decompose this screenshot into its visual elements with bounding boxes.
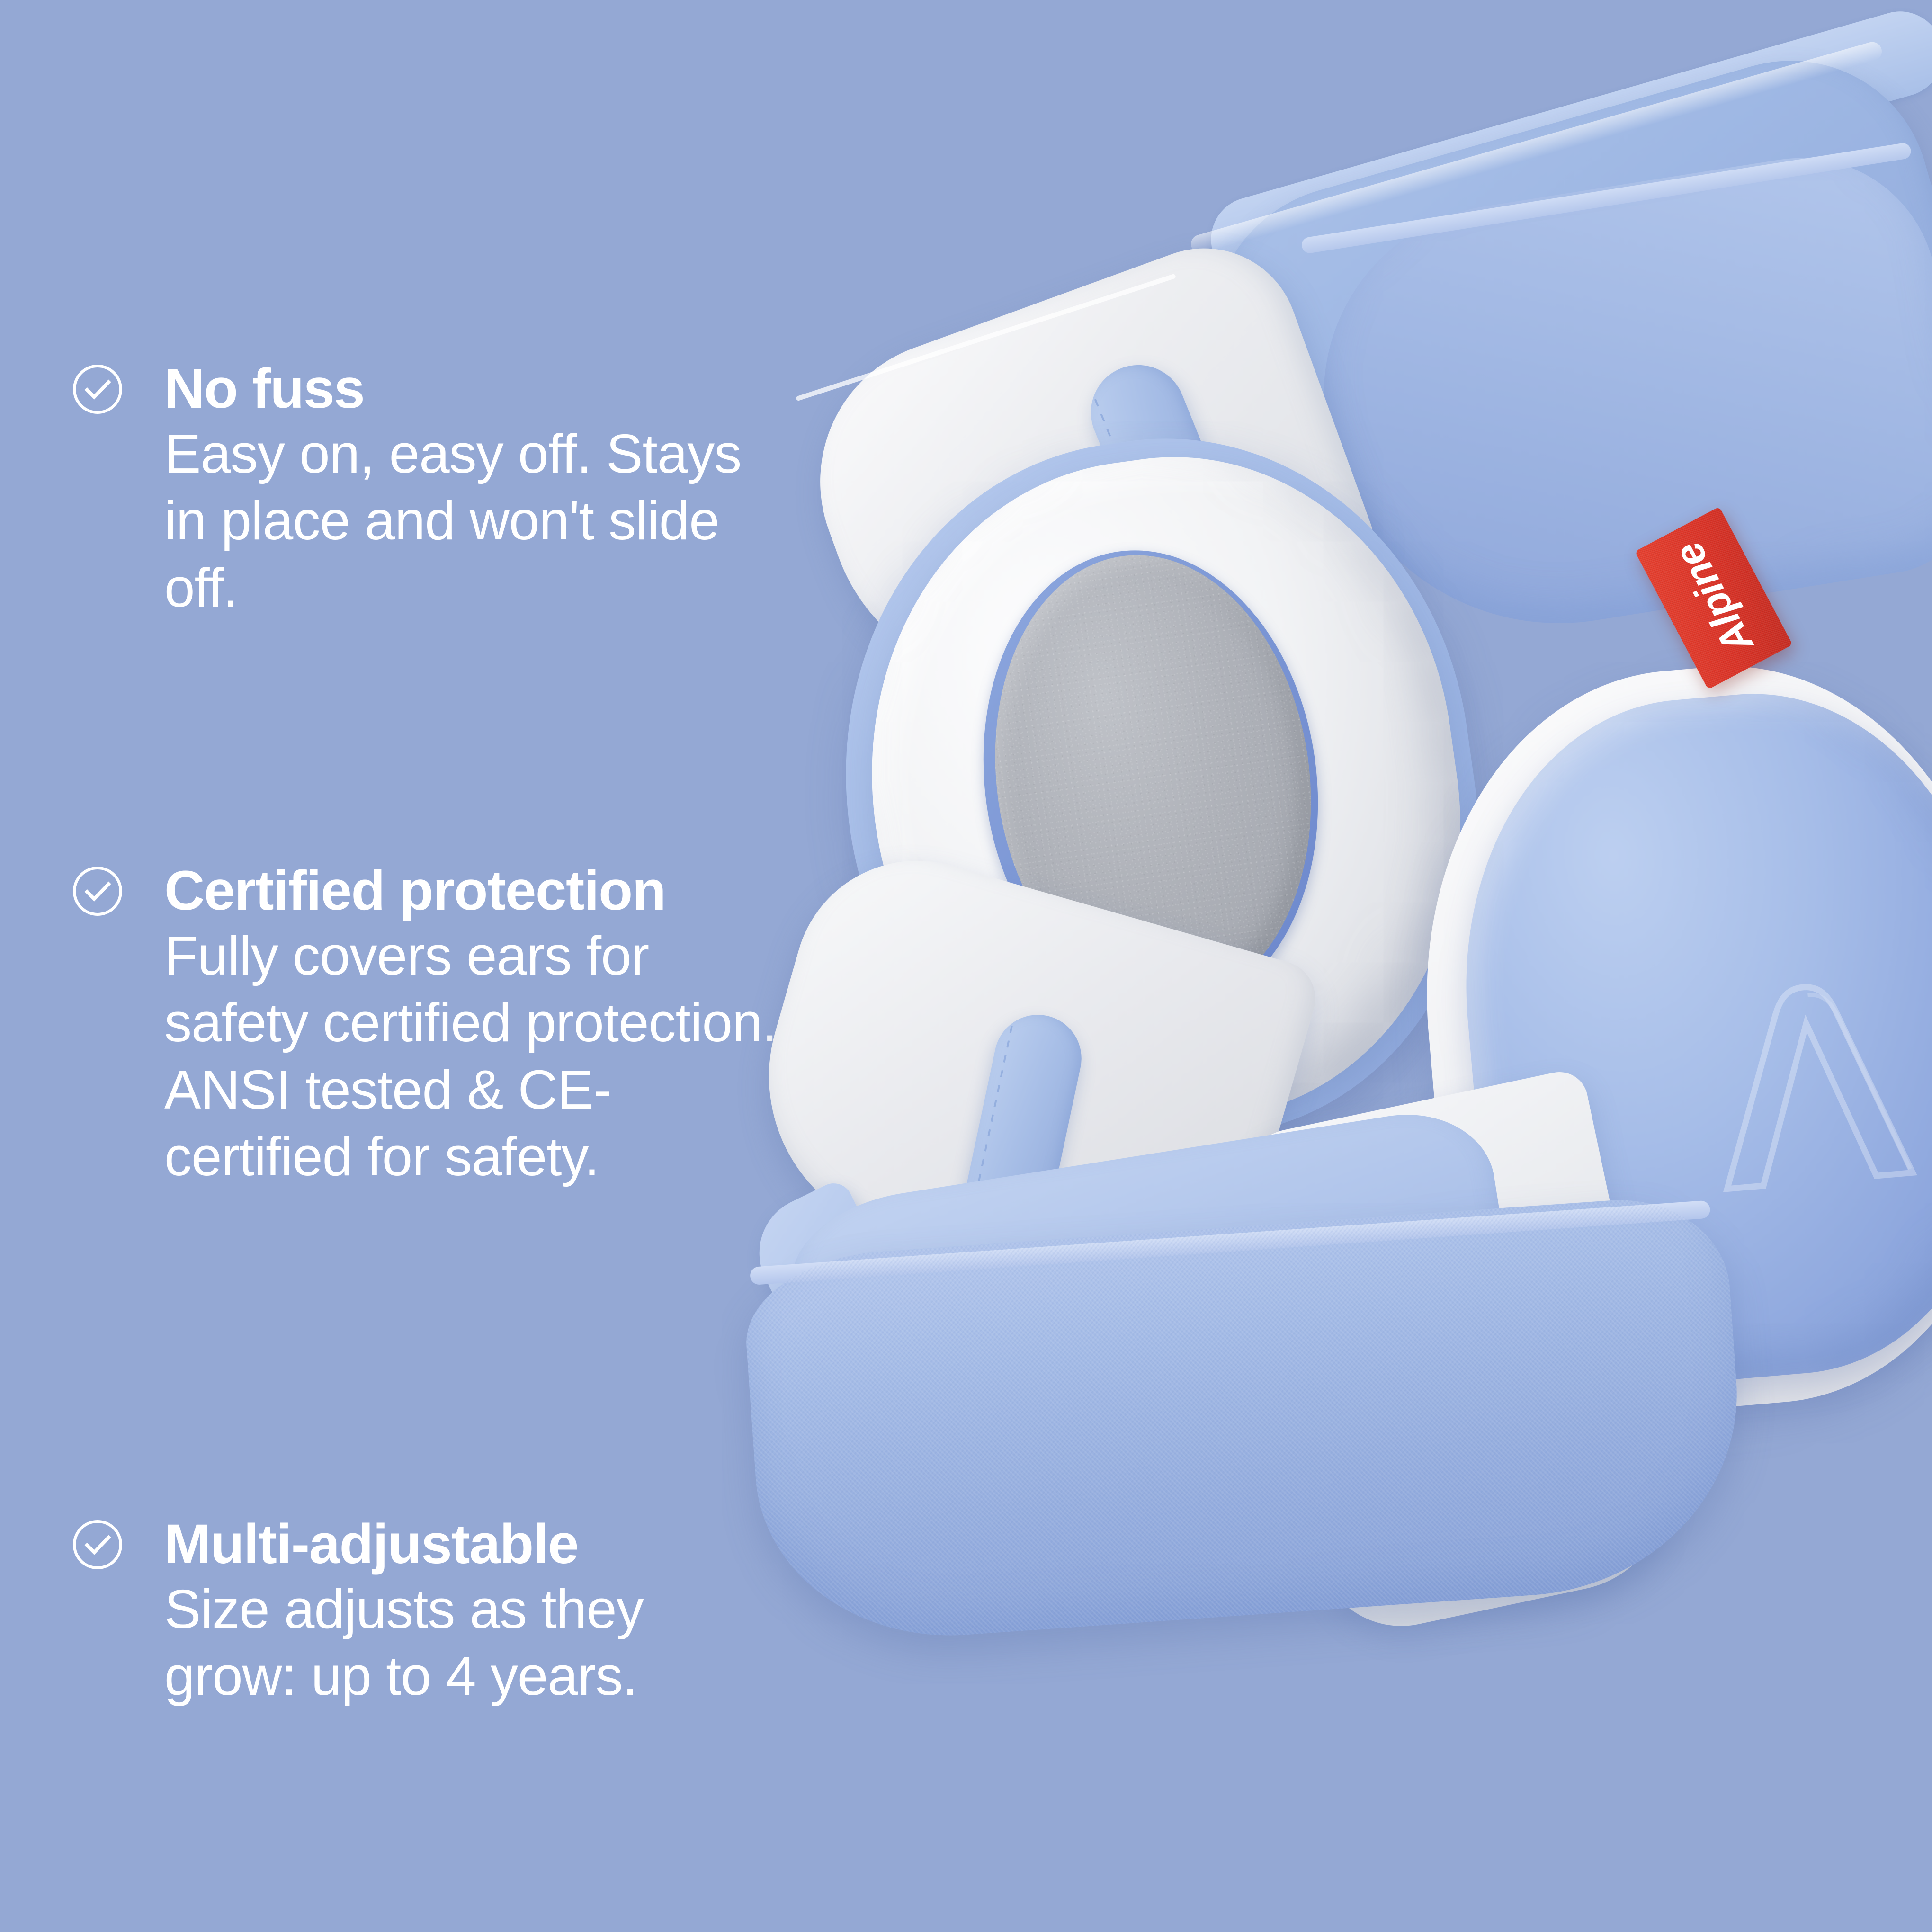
feature-item-no-fuss: No fuss Easy on, easy off. Stays in plac… <box>71 360 789 621</box>
circle-check-icon <box>71 1518 124 1571</box>
feature-title: Certified protection <box>164 862 789 921</box>
circle-check-icon <box>71 363 124 416</box>
headband-front-strap <box>741 1192 1750 1648</box>
feature-description: Fully covers ears for safety certified p… <box>164 922 789 1190</box>
product-image: Alpine <box>781 156 1932 1728</box>
feature-text-block: Certified protection Fully covers ears f… <box>164 862 789 1190</box>
circle-check-icon <box>71 865 124 918</box>
feature-title: No fuss <box>164 360 789 419</box>
feature-item-multi-adjustable: Multi-adjustable Size adjusts as they gr… <box>71 1515 789 1710</box>
marketing-panel: No fuss Easy on, easy off. Stays in plac… <box>0 0 1932 1932</box>
embossed-alpine-a-logo-icon <box>1700 962 1922 1202</box>
feature-text-block: No fuss Easy on, easy off. Stays in plac… <box>164 360 789 621</box>
feature-description: Easy on, easy off. Stays in place and wo… <box>164 420 789 622</box>
feature-title: Multi-adjustable <box>164 1515 789 1574</box>
feature-item-certified-protection: Certified protection Fully covers ears f… <box>71 862 789 1190</box>
feature-text-block: Multi-adjustable Size adjusts as they gr… <box>164 1515 789 1710</box>
feature-description: Size adjusts as they grow: up to 4 years… <box>164 1576 789 1710</box>
